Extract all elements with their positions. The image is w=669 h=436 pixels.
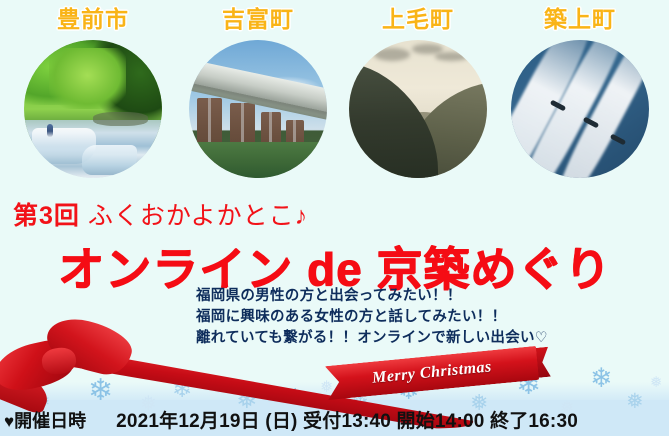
datetime-label: ♥開催日時: [4, 407, 86, 433]
city-label-3: 築上町: [500, 4, 660, 36]
mountain-valley-photo: [349, 40, 487, 178]
event-tagline: 第3回 ふくおかよかとこ♪: [13, 196, 308, 232]
city-card-1: 吉富町: [178, 0, 338, 190]
description-line-1: 福岡に興味のある女性の方と話してみたい！！: [196, 307, 548, 328]
red-ribbon-bow: [0, 322, 124, 392]
city-card-3: 築上町: [500, 0, 660, 190]
description-line-0: 福岡県の男性の方と出会ってみたい！！: [196, 286, 548, 307]
city-gallery: 豊前市 吉富町: [0, 0, 669, 190]
bridge-photo: [189, 40, 327, 178]
event-poster: 豊前市 吉富町: [0, 0, 669, 436]
datetime-value: 2021年12月19日 (日) 受付13:40 開始14:00 終了16:30: [116, 406, 578, 433]
datetime-label-text: 開催日時: [14, 411, 86, 431]
snowflake-icon: ❅: [650, 375, 663, 390]
city-label-0: 豊前市: [13, 4, 173, 36]
description-line-2: 離れていても繋がる！！オンラインで新しい出会い♡: [196, 328, 548, 349]
forest-waterfall-photo: [24, 40, 162, 178]
blue-impulse-jets-photo: [511, 40, 649, 178]
city-label-2: 上毛町: [338, 4, 498, 36]
event-datetime-bar: ♥開催日時 2021年12月19日 (日) 受付13:40 開始14:00 終了…: [0, 403, 669, 436]
city-label-1: 吉富町: [178, 4, 338, 36]
city-card-0: 豊前市: [13, 0, 173, 190]
edition-number: 第3回: [13, 202, 80, 230]
merry-christmas-text: Merry Christmas: [325, 346, 539, 400]
snowflake-icon: ❄: [590, 365, 613, 392]
description-block: 福岡県の男性の方と出会ってみたい！！ 福岡に興味のある女性の方と話してみたい！！…: [196, 286, 548, 349]
merry-christmas-banner: Merry Christmas: [325, 346, 539, 400]
tagline-text: ふくおかよかとこ♪: [88, 202, 308, 230]
city-card-2: 上毛町: [338, 0, 498, 190]
heart-icon: ♥: [4, 412, 14, 431]
